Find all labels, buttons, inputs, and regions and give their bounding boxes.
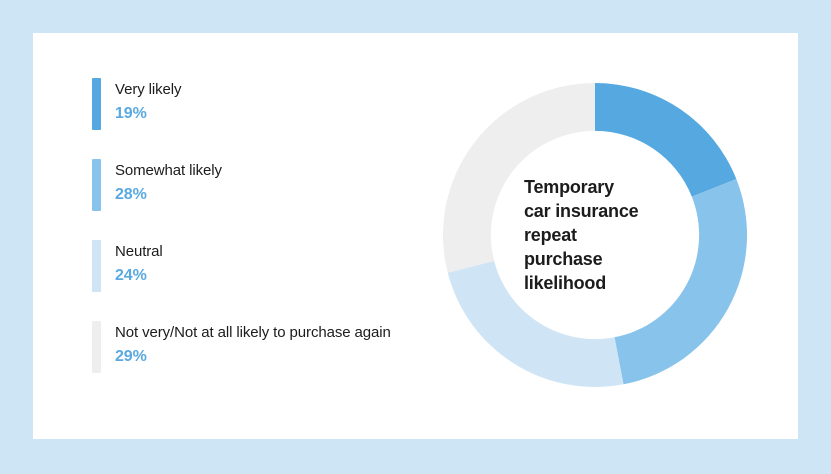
legend-text-group: Very likely 19%: [115, 78, 181, 130]
legend-label: Neutral: [115, 241, 163, 263]
chart-page: Very likely 19% Somewhat likely 28% Neut…: [0, 0, 831, 474]
donut-segment[interactable]: [443, 83, 595, 273]
legend-item[interactable]: Not very/Not at all likely to purchase a…: [92, 321, 492, 373]
donut-segment-group: [443, 83, 747, 387]
legend-value: 28%: [115, 182, 222, 208]
legend-swatch-very-likely: [92, 78, 101, 130]
legend-item[interactable]: Neutral 24%: [92, 240, 492, 292]
legend-text-group: Neutral 24%: [115, 240, 163, 292]
legend-item[interactable]: Somewhat likely 28%: [92, 159, 492, 211]
legend-text-group: Not very/Not at all likely to purchase a…: [115, 321, 391, 373]
legend-value: 24%: [115, 263, 163, 289]
legend-item[interactable]: Very likely 19%: [92, 78, 492, 130]
donut-segment[interactable]: [448, 261, 624, 387]
donut-segment[interactable]: [595, 83, 736, 197]
legend-swatch-not-likely: [92, 321, 101, 373]
donut-chart-svg: [439, 79, 751, 391]
legend-value: 19%: [115, 101, 181, 127]
donut-segment[interactable]: [615, 179, 747, 384]
legend-swatch-somewhat-likely: [92, 159, 101, 211]
chart-card: Very likely 19% Somewhat likely 28% Neut…: [33, 33, 798, 439]
legend-label: Very likely: [115, 79, 181, 101]
legend-label: Not very/Not at all likely to purchase a…: [115, 322, 391, 344]
legend-swatch-neutral: [92, 240, 101, 292]
donut-chart: Temporary car insurance repeat purchase …: [439, 79, 751, 391]
legend-label: Somewhat likely: [115, 160, 222, 182]
chart-legend: Very likely 19% Somewhat likely 28% Neut…: [92, 78, 492, 373]
legend-value: 29%: [115, 344, 391, 370]
legend-text-group: Somewhat likely 28%: [115, 159, 222, 211]
